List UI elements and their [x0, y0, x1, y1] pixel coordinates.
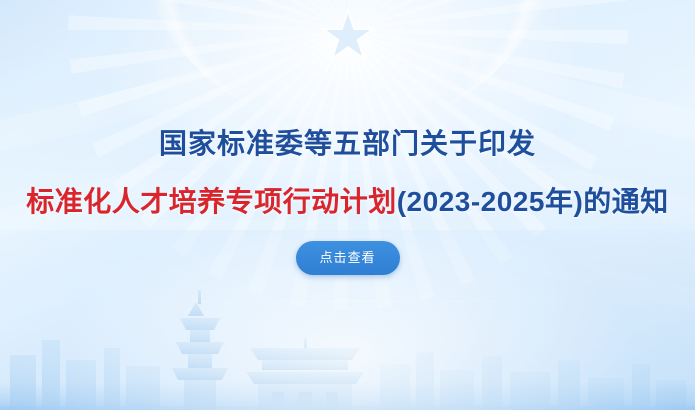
notice-banner: 国家标准委等五部门关于印发 标准化人才培养专项行动计划(2023-2025年)的…: [0, 0, 695, 410]
banner-title-highlight: 标准化人才培养专项行动计划: [26, 186, 397, 217]
banner-title-line1: 国家标准委等五部门关于印发: [0, 122, 695, 162]
view-details-button[interactable]: 点击查看: [296, 241, 400, 275]
banner-title-line2: 标准化人才培养专项行动计划(2023-2025年)的通知: [0, 180, 695, 220]
banner-content: 国家标准委等五部门关于印发 标准化人才培养专项行动计划(2023-2025年)的…: [0, 0, 695, 410]
banner-title-suffix: (2023-2025年)的通知: [397, 186, 669, 217]
